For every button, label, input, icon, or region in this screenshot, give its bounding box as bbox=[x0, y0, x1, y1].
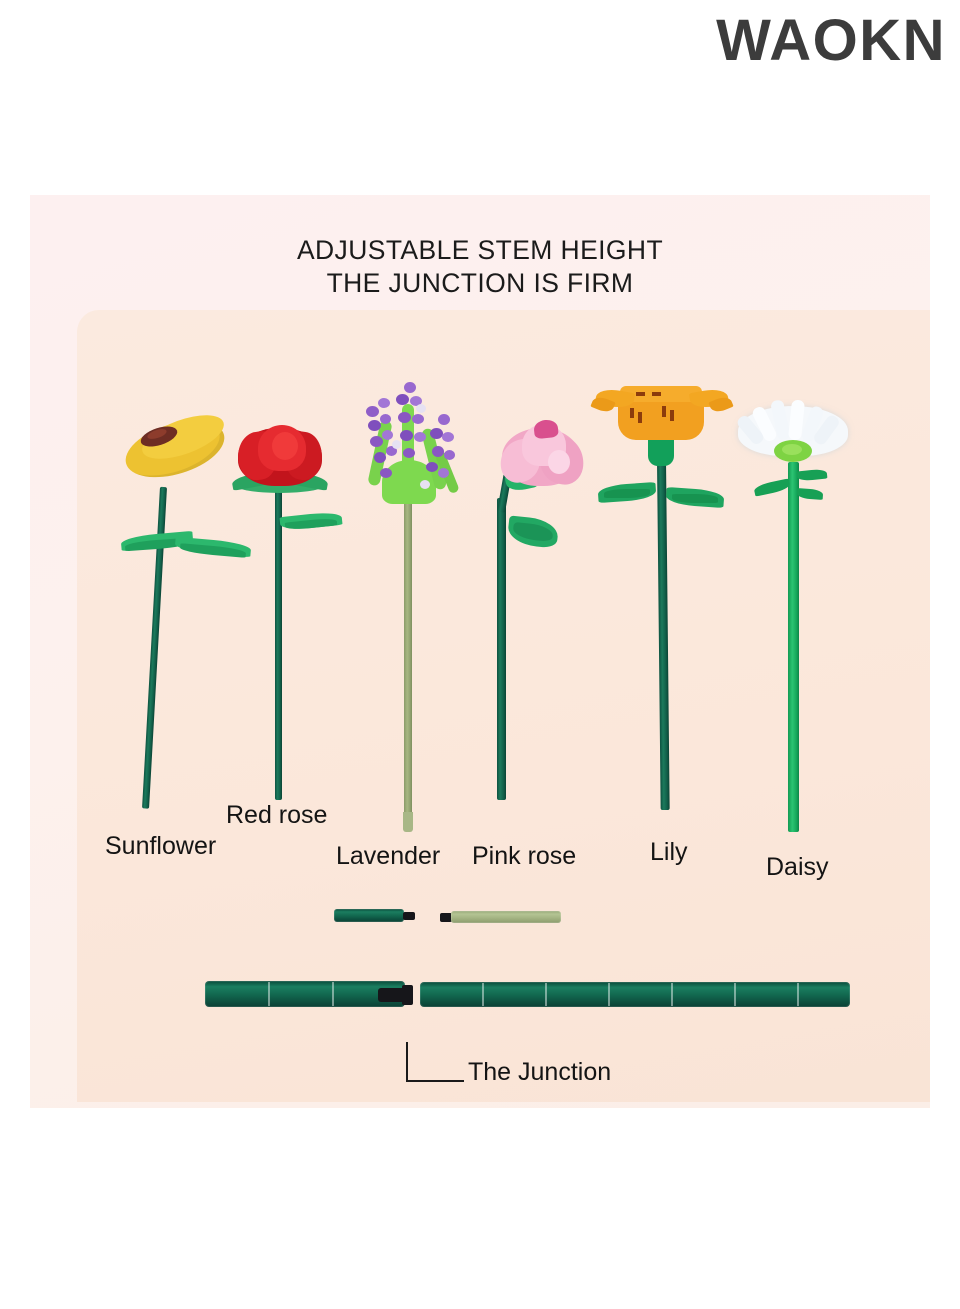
lily-speckle bbox=[652, 392, 661, 396]
lavender-floret bbox=[438, 414, 450, 425]
red-rose-petal-highlight bbox=[272, 432, 298, 460]
long-stem-left-segment bbox=[205, 981, 405, 1007]
headline-secondary: THE JUNCTION IS FIRM bbox=[30, 268, 930, 299]
flower-label-lavender: Lavender bbox=[336, 842, 440, 871]
flower-label-pink-rose: Pink rose bbox=[472, 842, 576, 871]
lily-speckle bbox=[636, 392, 645, 396]
lavender-floret bbox=[366, 406, 379, 417]
flower-label-red-rose: Red rose bbox=[226, 801, 327, 830]
lily-speckle bbox=[670, 410, 674, 421]
daisy-stem bbox=[788, 462, 799, 832]
lavender-floret bbox=[368, 420, 381, 431]
lily-leaf-left-inner bbox=[604, 489, 650, 498]
long-stem-seam bbox=[671, 983, 673, 1006]
lavender-floret bbox=[400, 430, 413, 441]
lavender-floret bbox=[412, 414, 424, 424]
flower-label-daisy: Daisy bbox=[766, 853, 829, 882]
lavender-floret bbox=[442, 432, 454, 442]
lavender-floret bbox=[378, 398, 390, 408]
lily-leaf-right-inner bbox=[672, 494, 718, 503]
daisy-center-highlight bbox=[782, 444, 802, 455]
pink-rose-petal-tip bbox=[533, 419, 559, 439]
lavender-floret bbox=[398, 412, 411, 423]
lavender-floret bbox=[444, 450, 455, 460]
flower-label-sunflower: Sunflower bbox=[105, 832, 216, 861]
lavender-floret-white bbox=[420, 480, 430, 489]
long-stem-seam bbox=[482, 983, 484, 1006]
lavender-floret bbox=[404, 382, 416, 393]
lavender-floret bbox=[380, 468, 392, 478]
lily-speckle bbox=[638, 412, 642, 423]
long-stem-right-segment bbox=[420, 982, 850, 1007]
lavender-floret bbox=[414, 432, 426, 442]
lavender-floret bbox=[426, 462, 438, 472]
sample-rod-sage bbox=[451, 911, 561, 923]
lavender-floret bbox=[438, 468, 449, 478]
lavender-floret bbox=[374, 452, 386, 463]
long-stem-seam bbox=[332, 982, 334, 1006]
junction-callout-label: The Junction bbox=[468, 1058, 611, 1087]
lily-speckle bbox=[662, 406, 666, 417]
pink-rose-petal-highlight bbox=[548, 450, 570, 474]
long-stem-seam bbox=[268, 982, 270, 1006]
brand-wordmark: WAOKN bbox=[716, 7, 946, 74]
lavender-floret bbox=[396, 394, 409, 405]
brand-bar: WAOKN bbox=[0, 0, 960, 90]
sample-rod-dark bbox=[334, 909, 404, 922]
lavender-floret-white bbox=[416, 404, 426, 413]
long-stem-seam bbox=[545, 983, 547, 1006]
lavender-stem-cap bbox=[403, 812, 413, 832]
red-rose-stem bbox=[275, 488, 282, 800]
long-stem-seam bbox=[608, 983, 610, 1006]
long-stem-seam bbox=[734, 983, 736, 1006]
sample-rod-dark-peg bbox=[403, 912, 415, 920]
junction-callout-bracket bbox=[406, 1042, 464, 1082]
lavender-floret bbox=[432, 446, 444, 457]
pink-rose-stem bbox=[497, 498, 506, 800]
lavender-floret bbox=[403, 448, 415, 458]
long-stem-seam bbox=[797, 983, 799, 1006]
lavender-floret bbox=[370, 436, 383, 447]
lily-speckle bbox=[630, 408, 634, 418]
lavender-floret bbox=[382, 430, 393, 440]
flower-label-lily: Lily bbox=[650, 838, 688, 867]
lavender-floret bbox=[380, 414, 391, 424]
lavender-floret-white bbox=[392, 440, 401, 449]
long-stem-connector-collar bbox=[402, 985, 413, 1005]
headline-primary: ADJUSTABLE STEM HEIGHT bbox=[30, 235, 930, 266]
lavender-stem bbox=[404, 492, 412, 830]
